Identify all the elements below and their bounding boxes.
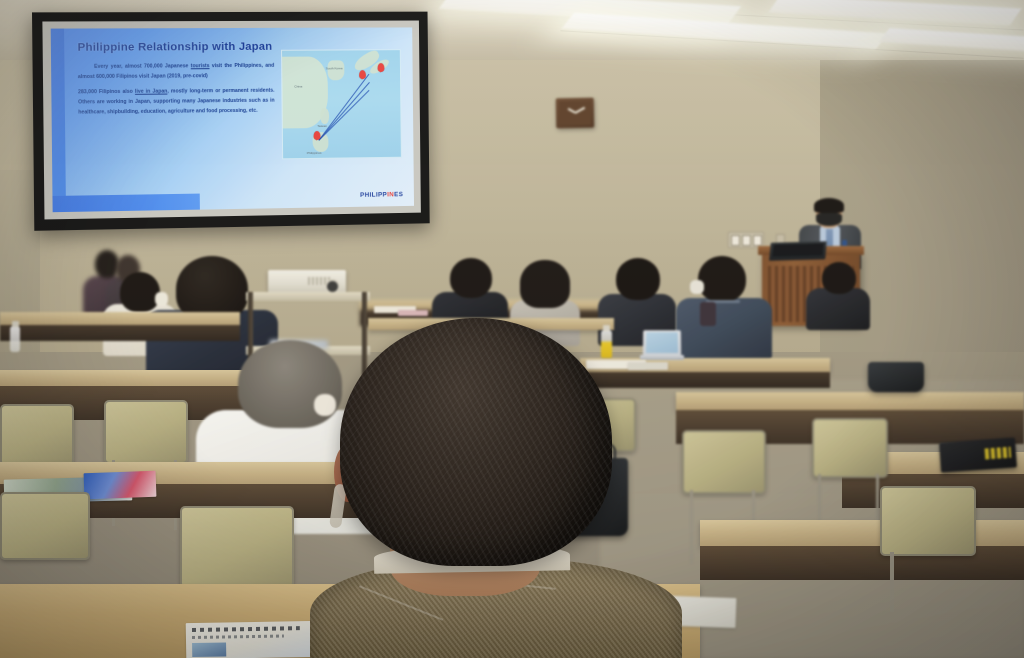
desk-front-panel — [0, 325, 240, 341]
podium-laptop-screen — [772, 243, 823, 256]
handout-image — [192, 642, 226, 657]
slide-title: Philippine Relationship with Japan — [77, 41, 272, 54]
light-switch[interactable] — [753, 235, 762, 246]
map-pin-japan — [359, 70, 366, 79]
desk-row-right-upper — [676, 392, 1024, 410]
clock-face — [559, 101, 591, 126]
podium-laptop — [769, 241, 827, 260]
slide-accent-left — [51, 29, 66, 213]
foreground-attendee — [318, 318, 670, 658]
bottle-cap — [12, 321, 19, 327]
chair — [180, 506, 290, 584]
projection-screen: Philippine Relationship with Japan Every… — [32, 12, 430, 231]
slide-map-image: South Korea China Taiwan Philippines — [281, 49, 402, 159]
light-switch[interactable] — [742, 235, 751, 246]
document-folder — [939, 437, 1017, 472]
slide-accent-bottom — [52, 194, 199, 213]
slide-body: Every year, almost 700,000 Japanese tour… — [78, 62, 275, 124]
map-pin-japan — [378, 63, 385, 72]
attendee-vest — [700, 302, 716, 326]
philippines-logo-text: PHILIPPINES — [360, 191, 403, 199]
chair — [0, 492, 86, 556]
map-pin-philippines — [313, 131, 320, 140]
map-label: South Korea — [326, 66, 343, 70]
water-bottle — [10, 326, 20, 352]
map-landmass-taiwan — [320, 108, 329, 124]
philippines-logo: PHILIPPINES — [360, 191, 403, 199]
chair-back — [682, 430, 766, 494]
folder-label — [985, 447, 1012, 460]
chair-back — [0, 492, 90, 560]
chair-back — [104, 400, 188, 464]
handout-paper — [398, 310, 428, 316]
chair-back — [0, 404, 74, 466]
map-label: Taiwan — [317, 124, 327, 128]
chair — [880, 486, 972, 552]
handout-text-line — [192, 634, 284, 639]
chair — [682, 430, 762, 490]
brochure-blue-red — [84, 471, 157, 499]
slide-paragraph: Every year, almost 700,000 Japanese tour… — [78, 62, 275, 83]
cart-shelf-top — [246, 292, 370, 301]
chair — [0, 404, 70, 462]
map-label: Philippines — [307, 151, 322, 155]
desk-row-left-back — [0, 312, 240, 325]
wall-clock-icon — [556, 98, 595, 129]
projector — [268, 270, 346, 294]
presentation-slide: Philippine Relationship with Japan Every… — [51, 27, 414, 212]
handout-text-line — [192, 626, 300, 632]
light-switch[interactable] — [731, 235, 740, 246]
attendee — [806, 262, 870, 326]
chair — [812, 418, 884, 474]
chair-back — [180, 506, 294, 588]
chair-back — [880, 486, 976, 556]
desk-bag — [868, 362, 924, 392]
handout-japanese — [186, 621, 319, 658]
chair-back — [812, 418, 888, 478]
slide-paragraph: 283,000 Filipinos also live in Japan, mo… — [78, 87, 275, 119]
hair-texture — [340, 318, 612, 566]
map-label: China — [294, 84, 302, 88]
presenter-face-mask — [816, 213, 842, 226]
foreground-hair — [340, 318, 612, 566]
face-mask — [690, 280, 704, 294]
presenter-hair — [814, 198, 844, 213]
attendee — [676, 256, 772, 356]
lecture-hall-photo: Philippine Relationship with Japan Every… — [0, 0, 1024, 658]
chair — [104, 400, 184, 460]
